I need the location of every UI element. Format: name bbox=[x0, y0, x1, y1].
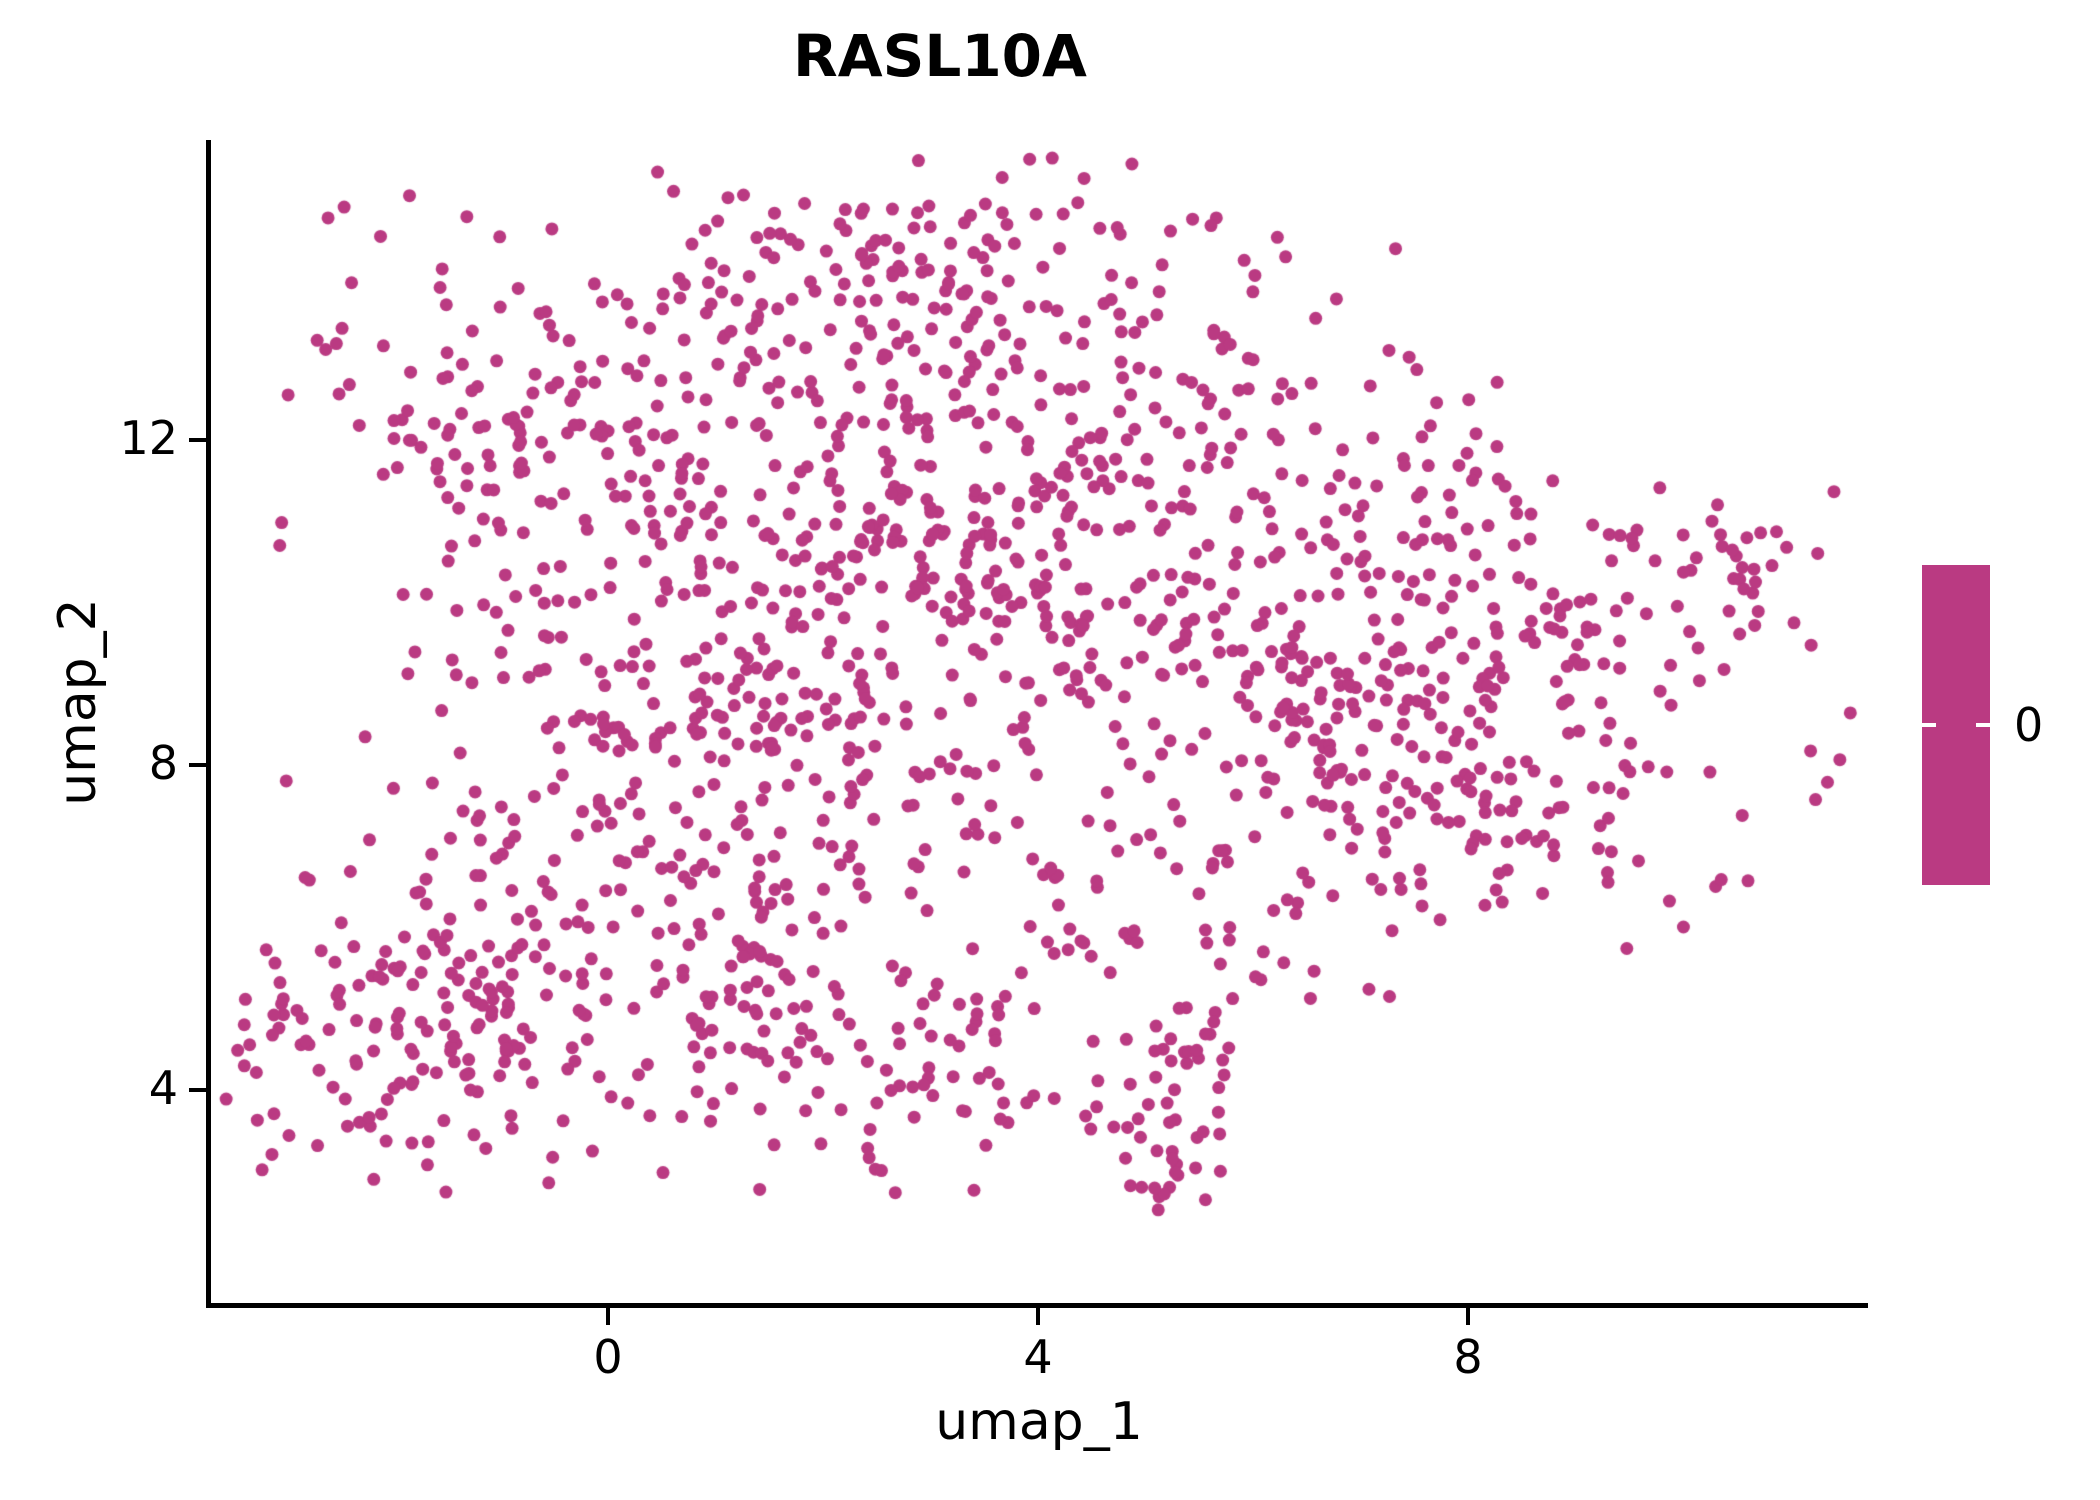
y-tick-8 bbox=[189, 763, 206, 767]
y-tick-4 bbox=[189, 1088, 206, 1092]
y-axis-spine bbox=[206, 140, 211, 1308]
x-ticklabel-4: 4 bbox=[978, 1330, 1098, 1384]
x-ticklabel-0: 0 bbox=[548, 1330, 668, 1384]
scatter-points-canvas bbox=[210, 140, 1868, 1305]
umap-feature-plot-figure: RASL10A 12 8 4 0 4 8 umap_1 umap_2 0 bbox=[0, 0, 2100, 1500]
x-tick-0 bbox=[606, 1308, 610, 1325]
colorbar-ticklabel-0: 0 bbox=[2014, 695, 2043, 755]
y-axis-label: umap_2 bbox=[48, 302, 108, 1102]
x-axis-label: umap_1 bbox=[210, 1392, 1868, 1452]
colorbar-legend: 0 bbox=[1922, 565, 2100, 885]
x-tick-8 bbox=[1466, 1308, 1470, 1325]
plot-area bbox=[210, 140, 1868, 1305]
y-tick-12 bbox=[189, 438, 206, 442]
x-tick-4 bbox=[1036, 1308, 1040, 1325]
page-title: RASL10A bbox=[0, 22, 1880, 90]
colorbar-gradient bbox=[1922, 565, 1990, 885]
x-ticklabel-8: 8 bbox=[1408, 1330, 1528, 1384]
